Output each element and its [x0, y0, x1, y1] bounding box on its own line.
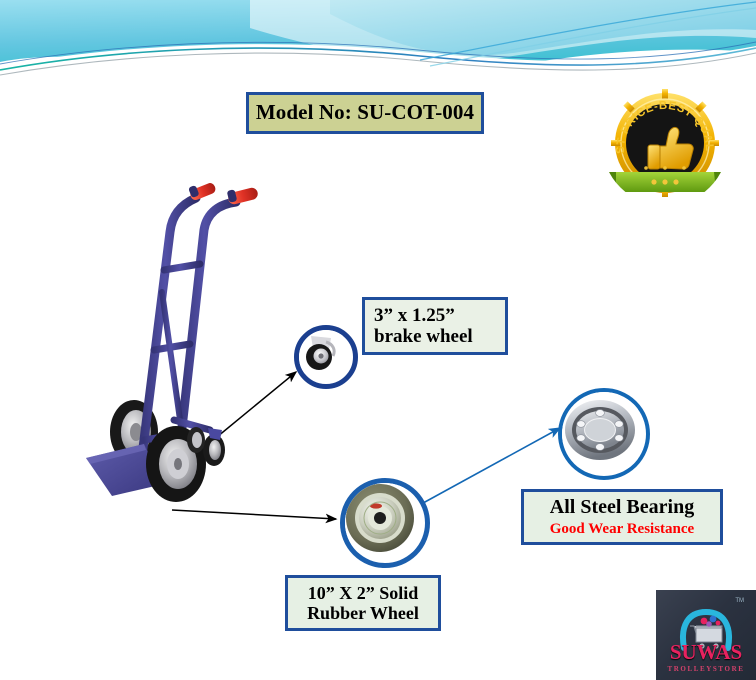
brake-wheel-line2: brake wheel — [374, 326, 505, 347]
steel-bearing-line1: All Steel Bearing — [550, 496, 694, 518]
caster-wheel — [203, 428, 225, 466]
logo-brand-text: SUWAS — [656, 642, 756, 663]
ball-bearing-photo-circle — [558, 388, 650, 480]
best-price-best-quality-badge-icon: BEST PRICE-BEST QUALITY — [602, 80, 728, 206]
model-number-label: Model No: SU-COT-004 — [246, 92, 484, 134]
model-number-text: Model No: SU-COT-004 — [256, 101, 474, 125]
logo-subtitle-text: TROLLEYSTORE — [656, 666, 756, 673]
rubber-wheel-line2: Rubber Wheel — [307, 603, 419, 623]
rubber-wheel-photo-circle — [340, 478, 430, 568]
caster-wheel-secondary — [187, 427, 205, 453]
caster-wheel-icon — [299, 330, 343, 374]
rubber-wheel-line1: 10” X 2” Solid — [308, 583, 419, 603]
rubber-wheel-icon — [345, 483, 415, 553]
steel-bearing-label: All Steel Bearing Good Wear Resistance — [521, 489, 723, 545]
suwas-trolleystore-logo: TM SUWAS TROLLEYSTORE — [656, 590, 756, 680]
hand-truck-illustration — [78, 172, 298, 512]
steel-bearing-line2: Good Wear Resistance — [550, 521, 694, 538]
caster-wheel-photo-circle — [294, 325, 358, 389]
brake-wheel-label: 3” x 1.25” brake wheel — [362, 297, 508, 355]
poster-canvas: BEST PRICE-BEST QUALITY Model No: SU-COT… — [0, 0, 756, 680]
trademark-mark: TM — [735, 598, 744, 604]
ball-bearing-icon — [562, 392, 638, 468]
brake-wheel-line1: 3” x 1.25” — [374, 305, 505, 326]
rubber-wheel-label: 10” X 2” Solid Rubber Wheel — [285, 575, 441, 631]
